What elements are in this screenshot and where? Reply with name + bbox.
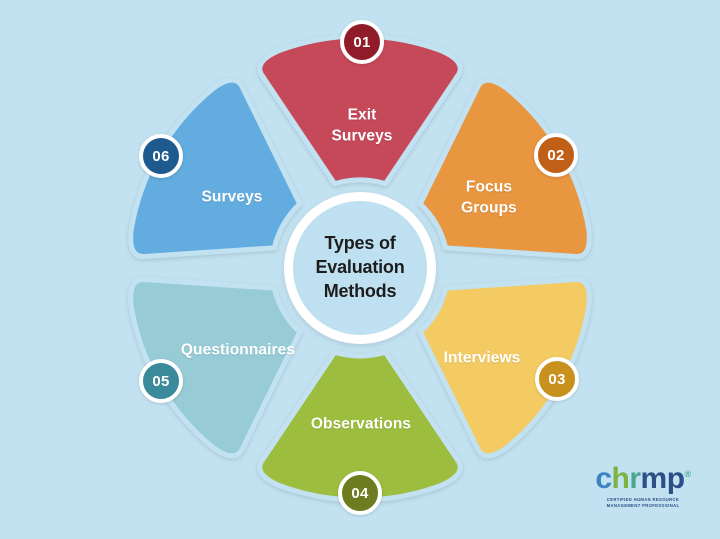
chrmp-logo: chrmp® CERTIFIED HUMAN RESOURCE MANAGEME… <box>587 464 699 510</box>
logo-letter-m: m <box>641 462 667 495</box>
number-badge-05[interactable]: 05 <box>139 359 183 403</box>
logo-letter-r: r <box>629 462 640 495</box>
number-badge-05-text: 05 <box>152 374 169 389</box>
number-badge-02-text: 02 <box>547 148 564 163</box>
number-badge-03-text: 03 <box>548 372 565 387</box>
chrmp-logo-tagline: CERTIFIED HUMAN RESOURCE MANAGEMENT PROF… <box>587 497 699 510</box>
infographic-canvas: Exit Surveys Focus Groups Interviews Obs… <box>0 0 720 539</box>
number-badge-04[interactable]: 04 <box>338 471 382 515</box>
logo-letter-h: h <box>612 462 630 495</box>
center-title: Types of Evaluation Methods <box>315 232 404 303</box>
number-badge-06-text: 06 <box>152 149 169 164</box>
number-badge-04-text: 04 <box>351 486 368 501</box>
number-badge-03[interactable]: 03 <box>535 357 579 401</box>
logo-letter-c: c <box>595 462 611 495</box>
number-badge-06[interactable]: 06 <box>139 134 183 178</box>
chrmp-wordmark: chrmp® <box>595 464 690 494</box>
center-hub: Types of Evaluation Methods <box>284 192 436 344</box>
logo-letter-p: p <box>667 462 685 495</box>
number-badge-02[interactable]: 02 <box>534 133 578 177</box>
number-badge-01-text: 01 <box>353 35 370 50</box>
registered-trademark-icon: ® <box>685 469 691 479</box>
number-badge-01[interactable]: 01 <box>340 20 384 64</box>
